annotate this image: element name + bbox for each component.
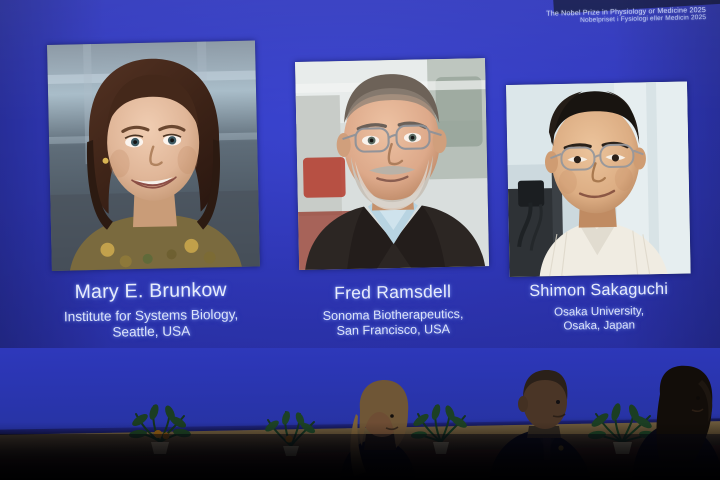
- laureate-affiliation-2-line-2: San Francisco, USA: [286, 321, 500, 340]
- slide-header: The Nobel Prize in Physiology or Medicin…: [546, 5, 706, 26]
- laureate-caption-2: Fred Ramsdell Sonoma Biotherapeutics, Sa…: [286, 281, 501, 339]
- laureate-name-3: Shimon Sakaguchi: [508, 281, 690, 301]
- laureate-name-1: Mary E. Brunkow: [18, 279, 284, 304]
- laureate-portrait-2: [295, 58, 489, 270]
- portrait-image-shimon-sakaguchi: [506, 82, 691, 277]
- screenshot-root: The Nobel Prize in Physiology or Medicin…: [0, 0, 720, 480]
- laureate-caption-3: Shimon Sakaguchi Osaka University, Osaka…: [508, 281, 691, 335]
- laureate-caption-1: Mary E. Brunkow Institute for Systems Bi…: [18, 279, 285, 343]
- portrait-image-fred-ramsdell: [295, 58, 489, 270]
- laureate-affiliation-3-line-2: Osaka, Japan: [508, 318, 690, 335]
- portrait-image-mary-e-brunkow: [47, 40, 260, 270]
- laureate-portrait-3: [506, 82, 691, 277]
- room-darkness: [0, 434, 720, 480]
- laureate-name-2: Fred Ramsdell: [286, 281, 500, 303]
- auditorium-foreground: [0, 348, 720, 480]
- laureate-portrait-1: [47, 40, 260, 270]
